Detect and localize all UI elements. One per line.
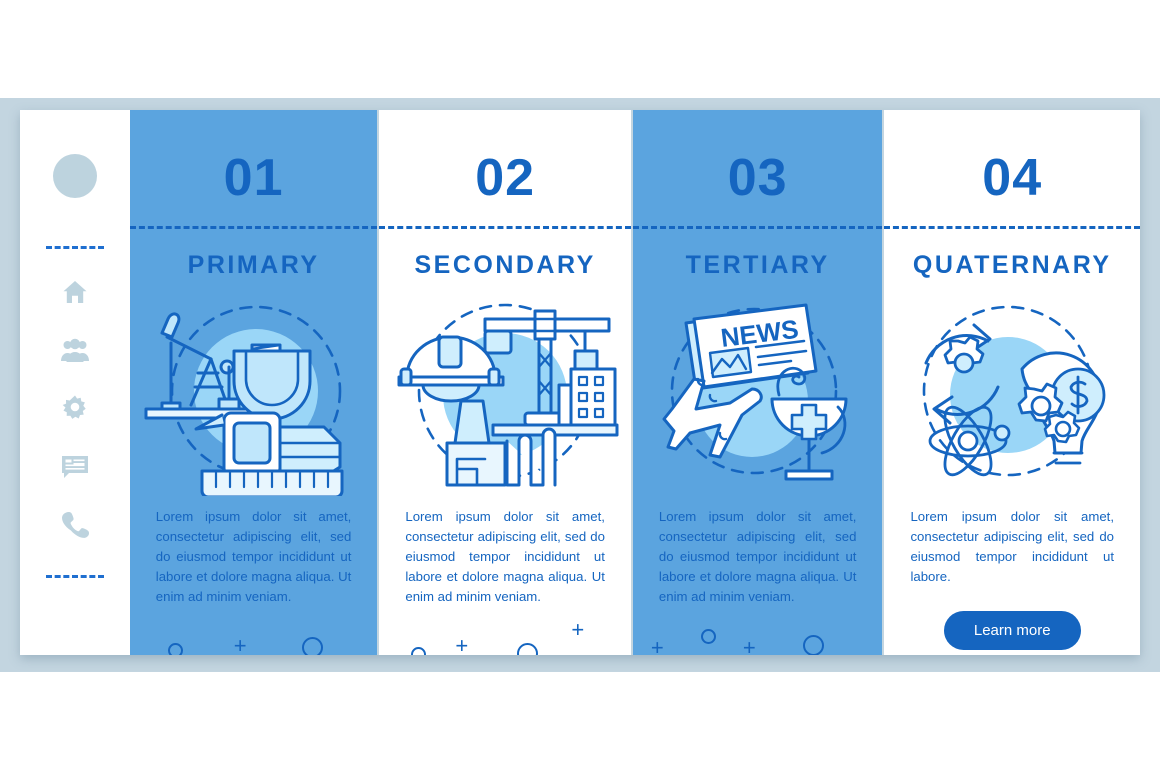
panel-primary[interactable]: 01 PRIMARY xyxy=(130,110,378,655)
gear-icon xyxy=(61,394,89,422)
sidebar-divider-top xyxy=(46,246,104,249)
panel-divider xyxy=(130,226,378,229)
sidebar-item-messages[interactable] xyxy=(60,451,90,481)
deco-circle-small xyxy=(411,647,426,655)
panel-number: 02 xyxy=(379,152,631,204)
panel-number: 01 xyxy=(130,152,378,204)
panel-illustration xyxy=(379,286,631,501)
avatar[interactable] xyxy=(53,154,97,198)
deco-plus: + xyxy=(571,619,584,641)
app-sidebar xyxy=(20,110,130,655)
panel-secondary[interactable]: 02 SECONDARY xyxy=(379,110,631,655)
panel-illustration: NEWS xyxy=(633,286,883,501)
onboarding-panels: 01 PRIMARY xyxy=(20,110,1140,655)
oil-pump-drill-excavator-icon xyxy=(138,291,370,496)
panel-title: PRIMARY xyxy=(130,251,378,280)
screenshot-root: 01 PRIMARY xyxy=(0,0,1160,772)
people-icon xyxy=(60,336,90,364)
panel-tertiary[interactable]: 03 TERTIARY NEWS xyxy=(633,110,883,655)
panel-body: Lorem ipsum dolor sit amet, consectetur … xyxy=(659,507,857,607)
panel-divider xyxy=(379,226,631,229)
panel-body: Lorem ipsum dolor sit amet, consectetur … xyxy=(156,507,352,607)
panel-decorations: + + xyxy=(379,617,631,655)
sidebar-item-settings[interactable] xyxy=(60,393,90,423)
deco-plus: + xyxy=(743,637,756,655)
deco-circle-small xyxy=(701,629,716,644)
panel-body: Lorem ipsum dolor sit amet, consectetur … xyxy=(405,507,605,607)
panel-decorations: + + xyxy=(633,617,883,655)
gears-lightbulb-atom-dollar-icon xyxy=(896,291,1128,496)
deco-plus: + xyxy=(455,635,468,655)
news-airplane-pharmacy-icon: NEWS xyxy=(642,291,874,496)
deco-circle-small xyxy=(168,643,183,655)
learn-more-button[interactable]: Learn more xyxy=(944,611,1081,650)
deco-plus: + xyxy=(651,637,664,655)
panel-divider xyxy=(633,226,883,229)
panel-decorations: + xyxy=(130,617,378,655)
panel-quaternary[interactable]: 04 QUATERNARY xyxy=(884,110,1140,655)
phone-icon xyxy=(61,510,89,538)
panel-illustration xyxy=(884,286,1140,501)
panel-body: Lorem ipsum dolor sit amet, consectetur … xyxy=(910,507,1114,587)
panel-illustration xyxy=(130,286,378,501)
panel-title: TERTIARY xyxy=(633,251,883,280)
panel-title: QUATERNARY xyxy=(884,251,1140,280)
sidebar-divider-bottom xyxy=(46,575,104,578)
panel-number: 03 xyxy=(633,152,883,204)
sidebar-nav xyxy=(60,277,90,539)
chat-icon xyxy=(60,452,90,480)
panel-number: 04 xyxy=(884,152,1140,204)
deco-plus: + xyxy=(234,635,247,655)
sidebar-item-home[interactable] xyxy=(60,277,90,307)
panel-title: SECONDARY xyxy=(379,251,631,280)
home-icon xyxy=(61,278,89,306)
sidebar-item-people[interactable] xyxy=(60,335,90,365)
deco-circle-large xyxy=(517,643,538,655)
hardhat-crane-factory-icon xyxy=(389,291,621,496)
deco-circle-large xyxy=(803,635,824,655)
panel-divider xyxy=(884,226,1140,229)
sidebar-item-contact[interactable] xyxy=(60,509,90,539)
deco-circle-large xyxy=(302,637,323,655)
